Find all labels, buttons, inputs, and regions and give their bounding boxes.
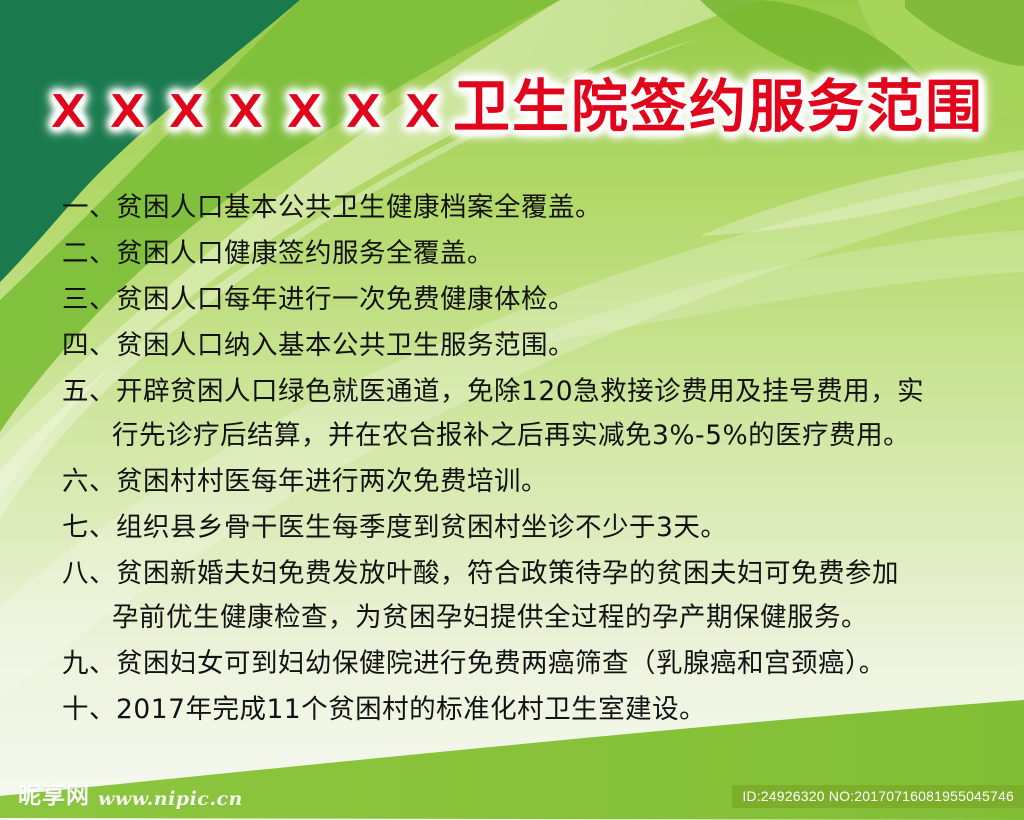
list-item: 一、贫困人口基本公共卫生健康档案全覆盖。 [0,186,1024,230]
list-item: 六、贫困村村医每年进行两次免费培训。 [0,460,1024,504]
list-item-text: 贫困村村医每年进行两次免费培训。 [116,460,548,504]
list-item-marker: 一、 [62,192,116,223]
list-item: 五、开辟贫困人口绿色就医通道，免除120急救接诊费用及挂号费用，实 行先诊疗后结… [0,370,1024,458]
list-item-marker: 四、 [62,330,116,361]
list-item: 二、贫困人口健康签约服务全覆盖。 [0,232,1024,276]
list-item-marker: 八、 [62,558,116,589]
list-item-marker: 六、 [62,466,116,497]
watermark-logo-text: 昵享网 [18,776,90,810]
list-item-marker: 五、 [62,376,116,407]
list-item: 四、贫困人口纳入基本公共卫生服务范围。 [0,324,1024,368]
list-item-text: 贫困人口基本公共卫生健康档案全覆盖。 [116,186,602,230]
page-title: ｘｘｘｘｘｘｘ卫生院签约服务范围 [26,74,998,142]
list-item-text: 贫困人口纳入基本公共卫生服务范围。 [116,324,575,368]
list-item-text: 贫困人口每年进行一次免费健康体检。 [116,278,575,322]
list-item-text: 2017年完成11个贫困村的标准化村卫生室建设。 [116,688,706,732]
list-item-text: 贫困妇女可到妇幼保健院进行免费两癌筛查（乳腺癌和宫颈癌）。 [116,642,886,686]
asset-id-badge: ID:24926320 NO:20170716081955045746 [732,785,1024,808]
list-item: 九、贫困妇女可到妇幼保健院进行免费两癌筛查（乳腺癌和宫颈癌）。 [0,642,1024,686]
watermark-url-text: www.nipic.cn [98,788,243,810]
list-item-marker: 三、 [62,284,116,315]
poster-title-container: ｘｘｘｘｘｘｘ卫生院签约服务范围 [0,74,1024,142]
list-item: 八、贫困新婚夫妇免费发放叶酸，符合政策待孕的贫困夫妇可免费参加 孕前优生健康检查… [0,552,1024,640]
list-item-marker: 二、 [62,238,116,269]
list-item-text-cont: 孕前优生健康检查，为贫困孕妇提供全过程的孕产期保健服务。 [62,596,984,640]
list-item: 七、组织县乡骨干医生每季度到贫困村坐诊不少于3天。 [0,506,1024,550]
list-item-text: 组织县乡骨干医生每季度到贫困村坐诊不少于3天。 [116,506,727,550]
list-item-marker: 九、 [62,648,116,679]
list-item: 三、贫困人口每年进行一次免费健康体检。 [0,278,1024,322]
poster-canvas: ｘｘｘｘｘｘｘ卫生院签约服务范围 一、贫困人口基本公共卫生健康档案全覆盖。 二、… [0,0,1024,820]
list-item-marker: 十、 [62,694,116,725]
list-item-text: 贫困人口健康签约服务全覆盖。 [116,232,494,276]
list-item: 十、2017年完成11个贫困村的标准化村卫生室建设。 [0,688,1024,732]
list-item-text: 开辟贫困人口绿色就医通道，免除120急救接诊费用及挂号费用，实 [116,370,924,414]
site-watermark: 昵享网 www.nipic.cn [18,776,243,810]
service-scope-list: 一、贫困人口基本公共卫生健康档案全覆盖。 二、贫困人口健康签约服务全覆盖。 三、… [0,186,1024,734]
list-item-text: 贫困新婚夫妇免费发放叶酸，符合政策待孕的贫困夫妇可免费参加 [116,552,899,596]
list-item-text-cont: 行先诊疗后结算，并在农合报补之后再实减免3%-5%的医疗费用。 [62,414,984,458]
list-item-marker: 七、 [62,512,116,543]
